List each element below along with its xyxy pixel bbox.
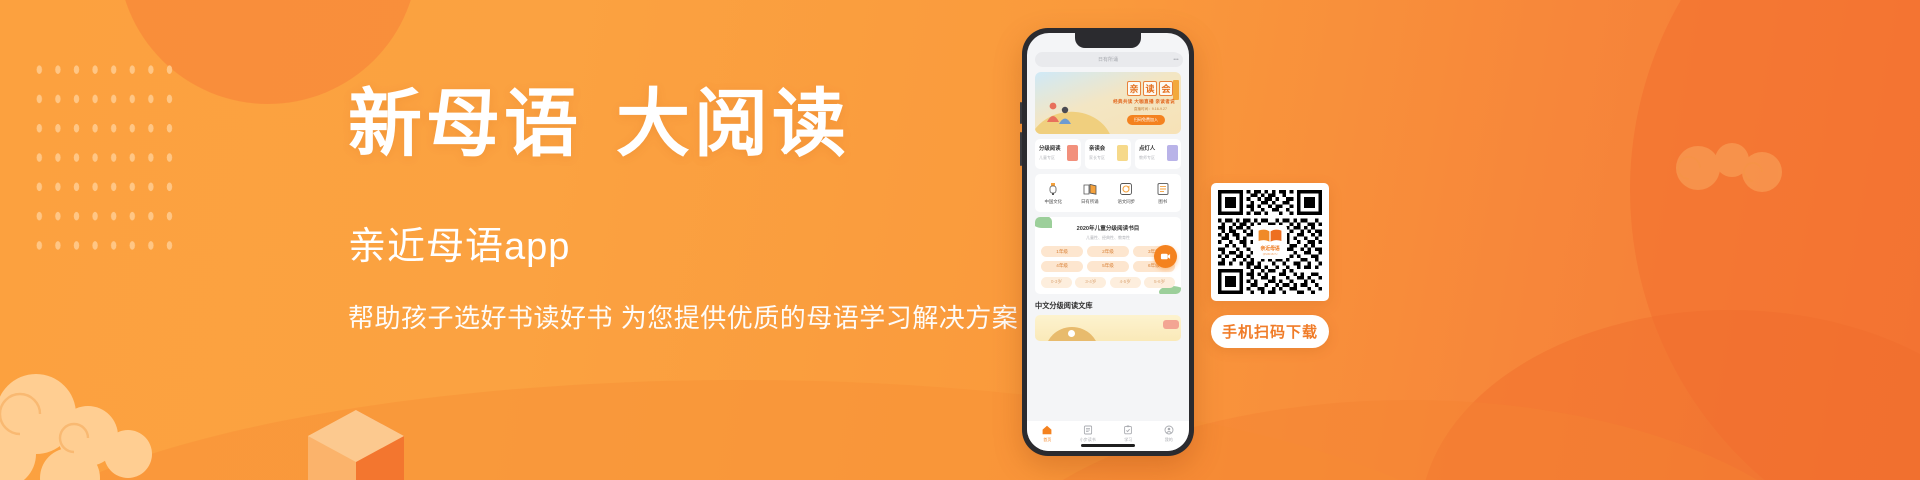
- grade-tag[interactable]: 2年级: [1087, 246, 1129, 257]
- decor-dot-grid: [30, 55, 176, 255]
- tab-label: 我的: [1165, 437, 1173, 443]
- category-card[interactable]: 点灯人 教师专区: [1135, 139, 1181, 169]
- banner-copy: 新母语大阅读 亲近母语app 帮助孩子选好书读好书 为您提供优质的母语学习解决方…: [348, 84, 1048, 335]
- tab-reading[interactable]: 小步读书: [1068, 425, 1109, 443]
- grade-tag[interactable]: 1年级: [1041, 246, 1083, 257]
- hero-subtitle: 经典共读 大咖直播 亲读者说: [1113, 99, 1175, 105]
- person-icon: [1167, 145, 1178, 161]
- tab-label: 首页: [1043, 437, 1051, 443]
- book-icon: [1156, 182, 1170, 196]
- shortcut-icon-row: 中国文化 日有所诵: [1035, 174, 1181, 212]
- library-title: 中文分级阅读文库: [1035, 301, 1181, 311]
- tab-label: 小步读书: [1080, 437, 1096, 443]
- booklist-title: 2020年儿童分级阅读书目: [1041, 224, 1175, 232]
- reading-icon: [1083, 425, 1093, 435]
- lantern-icon: [1046, 182, 1060, 196]
- booklist-subtitle: 儿童性、经典性、教育性: [1041, 235, 1175, 241]
- refresh-circle-icon: [1119, 182, 1133, 196]
- profile-icon: [1164, 425, 1174, 435]
- shortcut-item[interactable]: 图书: [1145, 182, 1182, 205]
- age-tag[interactable]: 4-5岁: [1110, 277, 1141, 288]
- bookmark-icon: [1067, 145, 1078, 161]
- qr-download-block: 亲近母语 QINJIN MUYU 手机扫码下载: [1211, 183, 1329, 348]
- video-play-icon[interactable]: [1154, 245, 1177, 268]
- library-tag-decor: [1163, 320, 1179, 329]
- shortcut-item[interactable]: 语文同步: [1108, 182, 1145, 205]
- promo-banner: 新母语大阅读 亲近母语app 帮助孩子选好书读好书 为您提供优质的母语学习解决方…: [0, 0, 1920, 480]
- phone-screen: 日有所诵 ••• 亲 读 会: [1027, 33, 1189, 451]
- age-tag[interactable]: 3-4岁: [1075, 277, 1106, 288]
- app-name: 亲近母语app: [348, 215, 1048, 270]
- search-placeholder: 日有所诵: [1098, 56, 1118, 63]
- decor-circle-right: [1630, 0, 1920, 480]
- phone-volume-down-button: [1020, 132, 1022, 166]
- open-book-icon: [1083, 182, 1097, 196]
- phone-notch: [1075, 33, 1141, 48]
- app-hero-banner[interactable]: 亲 读 会 经典共读 大咖直播 亲读者说 直播时间：9.16-9.27 扫码免费…: [1035, 72, 1181, 134]
- qr-logo-name: 亲近母语: [1260, 245, 1279, 252]
- decor-circle-bottom-right: [1420, 310, 1920, 480]
- category-card[interactable]: 亲读会 家长专区: [1085, 139, 1131, 169]
- grade-tag[interactable]: 5年级: [1087, 261, 1129, 272]
- qr-center-logo: 亲近母语 QINJIN MUYU: [1253, 225, 1287, 259]
- age-tag-grid: 0-3岁 3-4岁 4-5岁 5-6岁: [1041, 277, 1175, 288]
- clipboard-icon: [1123, 425, 1133, 435]
- hero-char-0: 亲: [1127, 81, 1141, 96]
- category-card[interactable]: 分级阅读 儿童专区: [1035, 139, 1081, 169]
- phone-volume-up-button: [1020, 102, 1022, 124]
- age-tag[interactable]: 0-3岁: [1041, 277, 1072, 288]
- decor-cube-icon: [308, 384, 404, 480]
- hero-char-2: 会: [1159, 81, 1173, 96]
- hero-flag-decor: [1173, 80, 1179, 100]
- grade-tag[interactable]: 4年级: [1041, 261, 1083, 272]
- age-tag[interactable]: 5-6岁: [1144, 277, 1175, 288]
- library-dot-decor: [1068, 330, 1075, 337]
- tab-home[interactable]: 首页: [1027, 425, 1068, 443]
- library-card[interactable]: [1035, 315, 1181, 341]
- phone-mockup: 日有所诵 ••• 亲 读 会: [1022, 28, 1194, 456]
- category-card-list: 分级阅读 儿童专区 亲读会 家长专区 点灯人 教师专区: [1035, 139, 1181, 169]
- decor-cloud-small-icon: [1670, 132, 1790, 198]
- home-icon: [1042, 425, 1052, 435]
- headline-part-2: 大阅读: [616, 84, 850, 166]
- page-title: 新母语大阅读: [348, 84, 1048, 167]
- hero-date: 直播时间：9.16-9.27: [1134, 107, 1167, 112]
- book-logo-icon: [1257, 228, 1283, 244]
- ellipsis-icon[interactable]: •••: [1169, 53, 1183, 67]
- tab-study[interactable]: 学习: [1108, 425, 1149, 443]
- headline-part-1: 新母语: [348, 84, 582, 166]
- home-indicator: [1081, 444, 1135, 447]
- shortcut-label: 中国文化: [1044, 199, 1062, 205]
- hero-char-1: 读: [1143, 81, 1157, 96]
- shortcut-label: 语文同步: [1117, 199, 1135, 205]
- hero-title: 亲 读 会: [1127, 81, 1173, 96]
- hero-cta-button[interactable]: 扫码免费加入: [1127, 115, 1165, 125]
- download-button[interactable]: 手机扫码下载: [1211, 315, 1329, 348]
- qr-logo-pinyin: QINJIN MUYU: [1263, 253, 1277, 256]
- decor-cloud-icon: [0, 358, 178, 480]
- bookmark-icon: [1117, 145, 1128, 161]
- banner-tagline: 帮助孩子选好书读好书 为您提供优质的母语学习解决方案: [348, 298, 1048, 335]
- search-input[interactable]: 日有所诵 •••: [1035, 52, 1181, 67]
- booklist-card[interactable]: 2020年儿童分级阅读书目 儿童性、经典性、教育性 1年级 2年级 3年级 4年…: [1035, 217, 1181, 294]
- tab-label: 学习: [1124, 437, 1132, 443]
- shortcut-item[interactable]: 中国文化: [1035, 182, 1072, 205]
- shortcut-label: 日有所诵: [1081, 199, 1099, 205]
- decor-arc-bottom: [0, 380, 1520, 480]
- shortcut-label: 图书: [1158, 199, 1167, 205]
- shortcut-item[interactable]: 日有所诵: [1072, 182, 1109, 205]
- tab-profile[interactable]: 我的: [1149, 425, 1190, 443]
- qr-card: 亲近母语 QINJIN MUYU: [1211, 183, 1329, 301]
- hero-kids-illustration: [1043, 98, 1079, 124]
